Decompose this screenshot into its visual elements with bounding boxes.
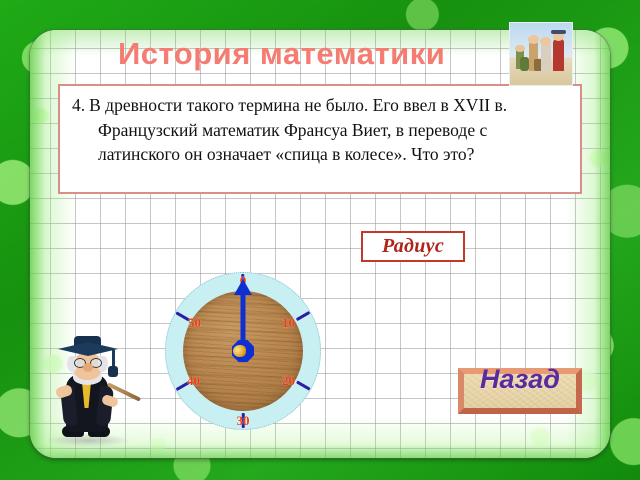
ancient-people-illustration [509, 22, 573, 86]
dial-number-10: 10 [282, 316, 295, 329]
page-title: История математики [118, 36, 445, 72]
dial-number-20: 20 [282, 374, 295, 387]
question-body: В древности такого термина не было. Его … [89, 95, 507, 164]
dial-number-40: 40 [187, 374, 200, 387]
slide-stage: История математики 4.В древности такого … [0, 0, 640, 480]
dial-number-30: 30 [237, 414, 250, 427]
question-text: 4.В древности такого термина не было. Ег… [72, 93, 570, 167]
wheel-dial: 0 10 20 30 40 50 [165, 272, 321, 430]
answer-text: Радиус [382, 235, 444, 258]
question-box: 4.В древности такого термина не было. Ег… [58, 84, 582, 194]
dial-number-50: 50 [188, 316, 201, 329]
answer-label-radius: Радиус [361, 231, 465, 262]
professor-wizard-mascot [40, 330, 136, 448]
question-number: 4. [72, 95, 89, 115]
dial-arrowhead-icon [234, 279, 252, 295]
back-button[interactable] [458, 368, 582, 414]
